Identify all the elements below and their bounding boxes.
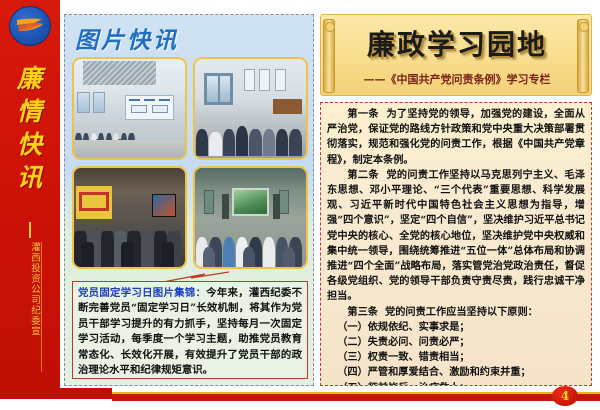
article-section-heading: 第三条 xyxy=(347,306,378,318)
caption-body: 今年来，灌西纪委不断完善党员“固定学习日”长效机制，将其作为党员干部学习提升的有… xyxy=(78,287,302,376)
photo-thumbnail[interactable] xyxy=(72,166,187,269)
banner-title-char-0: 廉 xyxy=(0,62,60,95)
principle-item: （四）严管和厚爱结合、激励和约束并重； xyxy=(327,365,585,380)
newsletter-page: 廉 情 快 讯 灌西投资公司纪委宣 图片快讯 xyxy=(0,0,600,410)
photo-thumbnail[interactable] xyxy=(193,166,308,269)
photo-caption-box: 党员固定学习日图片集锦：今年来，灌西纪委不断完善党员“固定学习日”长效机制，将其… xyxy=(72,281,308,379)
article-section-text: 党的问责工作坚持以马克思列宁主义、毛泽东思想、邓小平理论、“三个代表”重要思想、… xyxy=(327,169,585,303)
article-section: 第二条 党的问责工作坚持以马克思列宁主义、毛泽东思想、邓小平理论、“三个代表”重… xyxy=(327,168,585,305)
footer-bar xyxy=(112,392,600,401)
photo-panel-title: 图片快讯 xyxy=(75,21,179,55)
article-section-heading: 第二条 xyxy=(347,169,378,181)
article-section: 第三条 党的问责工作应当坚持以下原则： xyxy=(327,305,585,320)
banner-title: 廉 情 快 讯 xyxy=(0,62,60,194)
photo-thumbnail[interactable] xyxy=(193,57,308,160)
article-section: 第一条 为了坚持党的领导，加强党的建设，全面从严治党，保证党的路线方针政策和党中… xyxy=(327,107,585,168)
article-section-text: 党的问责工作应当坚持以下原则： xyxy=(385,306,538,318)
article-section-heading: 第一条 xyxy=(347,108,378,120)
principle-item: （五）惩前毖后、治病救人； xyxy=(327,381,585,386)
principle-item: （二）失责必问、问责必严； xyxy=(327,335,585,350)
caption-lead: 党员固定学习日图片集锦： xyxy=(78,287,206,299)
banner-title-char-2: 快 xyxy=(0,128,60,161)
company-logo xyxy=(6,4,54,48)
study-column-panel: 廉政学习园地 ——《中国共产党问责条例》学习专栏 第一条 为了坚持党的领导，加强… xyxy=(320,14,592,386)
principle-item: （一）依规依纪、实事求是； xyxy=(327,320,585,335)
logo-swoosh-icon xyxy=(15,17,45,34)
banner-subtitle: 灌西投资公司纪委宣 xyxy=(26,242,42,372)
banner-divider xyxy=(29,222,31,238)
photo-news-panel: 图片快讯 xyxy=(64,14,314,386)
banner-footer-block xyxy=(0,388,112,399)
article-subtitle: ——《中国共产党问责条例》学习专栏 xyxy=(321,71,593,87)
principle-item: （三）权责一致、错责相当； xyxy=(327,350,585,365)
article-header-scroll: 廉政学习园地 ——《中国共产党问责条例》学习专栏 xyxy=(320,14,592,96)
photo-thumbnail[interactable] xyxy=(72,57,187,160)
article-body: 第一条 为了坚持党的领导，加强党的建设，全面从严治党，保证党的路线方针政策和党中… xyxy=(320,102,592,386)
banner-title-char-1: 情 xyxy=(0,95,60,128)
left-red-banner: 廉 情 快 讯 灌西投资公司纪委宣 xyxy=(0,0,60,388)
page-number-badge: 4 xyxy=(552,386,578,406)
photo-grid xyxy=(72,57,308,269)
banner-title-char-3: 讯 xyxy=(0,161,60,194)
article-title: 廉政学习园地 xyxy=(321,23,593,63)
